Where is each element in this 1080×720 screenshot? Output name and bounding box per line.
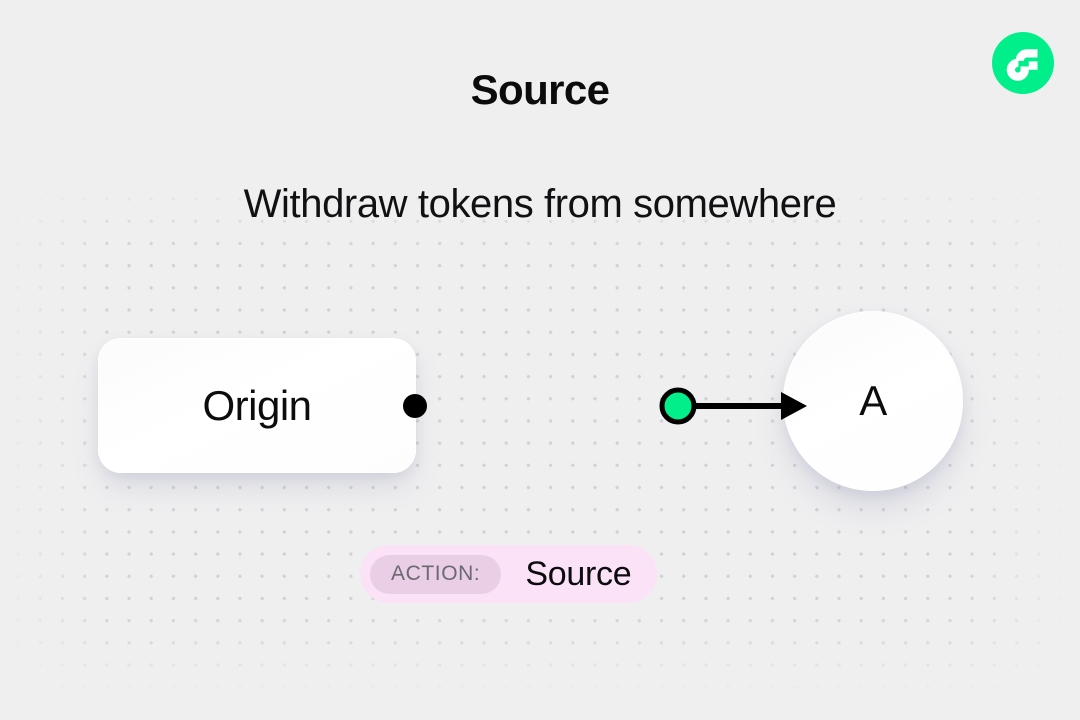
page-subtitle: Withdraw tokens from somewhere — [0, 178, 1080, 230]
node-a-label: A — [859, 377, 887, 425]
node-origin-label: Origin — [202, 382, 311, 430]
action-badge-key: ACTION: — [370, 555, 501, 594]
node-origin[interactable]: Origin — [98, 338, 416, 473]
action-badge-value: Source — [525, 555, 631, 594]
diagram-stage: Source Withdraw tokens from somewhere Or… — [0, 0, 1080, 720]
flow-logo-svg — [992, 32, 1054, 94]
flow-logo-icon — [992, 32, 1054, 94]
action-badge[interactable]: ACTION: Source — [360, 545, 657, 603]
edge-midpoint-marker[interactable] — [662, 390, 694, 422]
page-title: Source — [0, 64, 1080, 116]
node-a[interactable]: A — [783, 311, 963, 491]
